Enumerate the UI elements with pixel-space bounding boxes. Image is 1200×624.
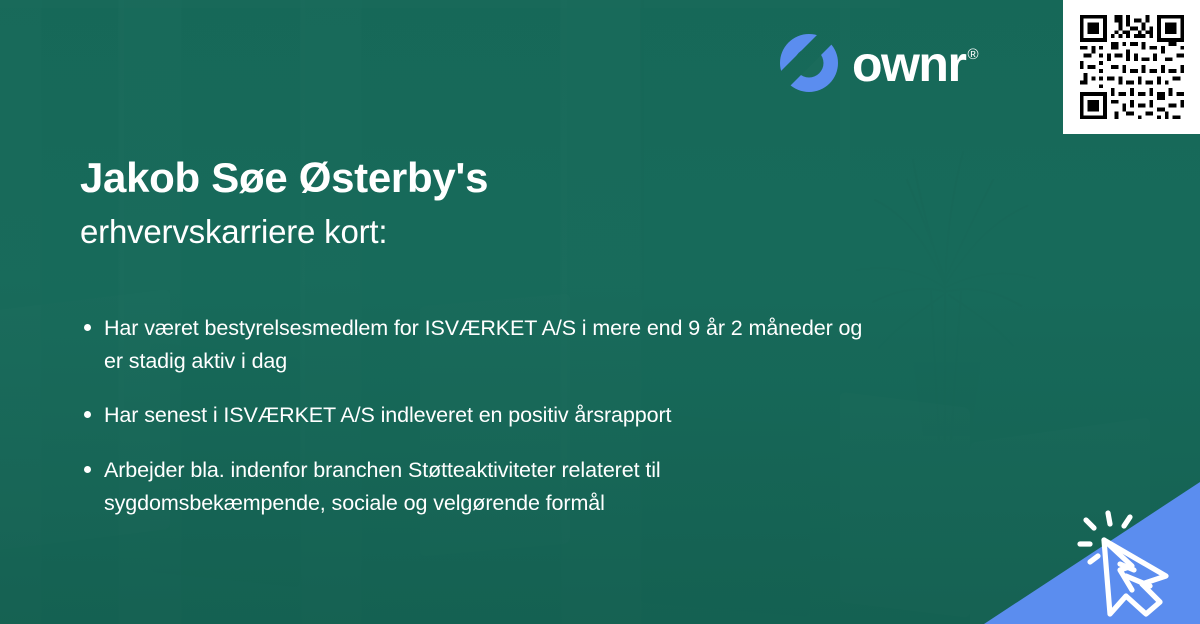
qr-code-panel[interactable]: [1063, 0, 1200, 134]
title-line-person-name: Jakob Søe Østerby's: [80, 154, 940, 201]
list-item: Har været bestyrelsesmedlem for ISVÆRKET…: [80, 312, 870, 377]
bullet-dot-icon: [84, 466, 91, 473]
bullet-dot-icon: [84, 411, 91, 418]
ownr-circle-logo-icon: [780, 34, 838, 92]
list-item: Arbejder bla. indenfor branchen Støtteak…: [80, 454, 870, 519]
registered-trademark-symbol: ®: [967, 46, 977, 63]
ownr-wordmark: ownr®: [852, 39, 975, 89]
click-cursor-icon: [1076, 510, 1188, 618]
title-line-subtitle: erhvervskarriere kort:: [80, 211, 940, 252]
page-title: Jakob Søe Østerby's erhvervskarriere kor…: [80, 154, 940, 252]
list-item-text: Har senest i ISVÆRKET A/S indleveret en …: [104, 403, 671, 427]
ownr-brand-lockup[interactable]: ownr®: [780, 34, 975, 92]
career-highlights-list: Har været bestyrelsesmedlem for ISVÆRKET…: [80, 312, 980, 519]
list-item-text: Arbejder bla. indenfor branchen Støtteak…: [104, 458, 661, 515]
list-item-text: Har været bestyrelsesmedlem for ISVÆRKET…: [104, 316, 862, 373]
brand-name-text: ownr: [852, 36, 965, 92]
bullet-dot-icon: [84, 324, 91, 331]
list-item: Har senest i ISVÆRKET A/S indleveret en …: [80, 399, 870, 432]
career-card: ownr® Jakob Søe Østerby's erhvervskarrie…: [0, 0, 1200, 624]
qr-code-icon[interactable]: [1076, 11, 1188, 123]
